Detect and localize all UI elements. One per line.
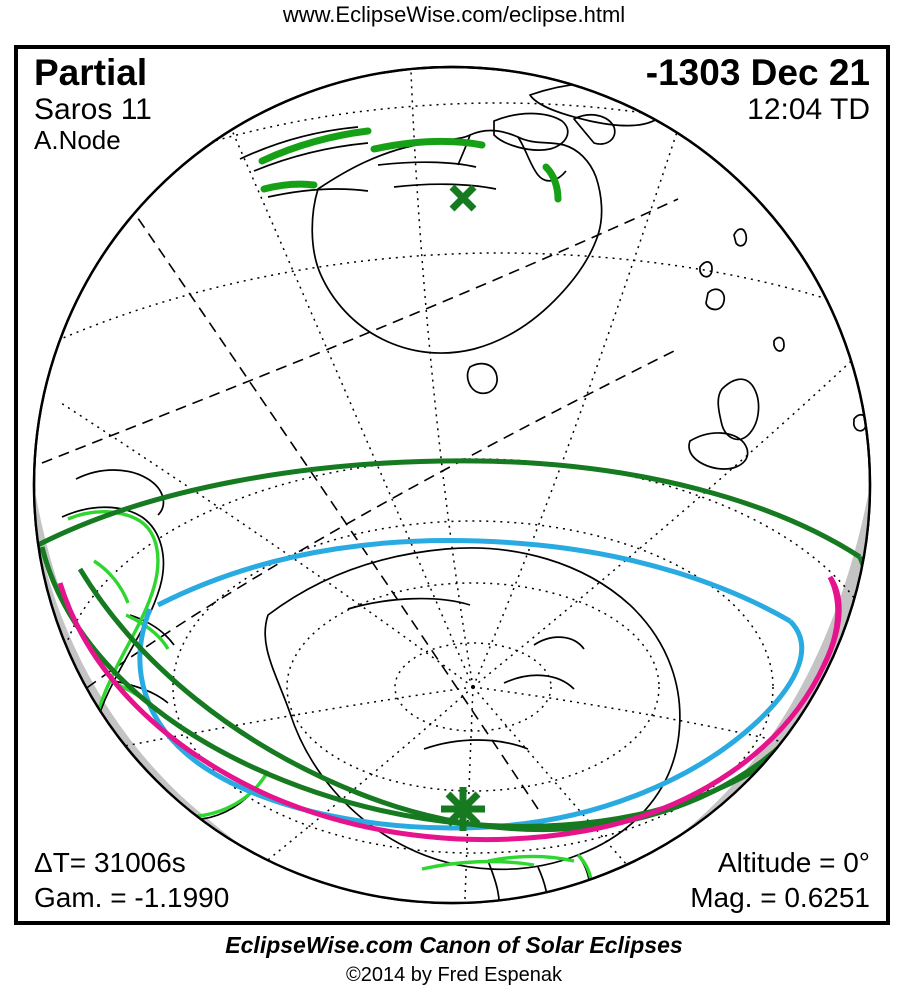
eclipse-map-page: www.EclipseWise.com/eclipse.html bbox=[0, 0, 908, 1004]
globe-map bbox=[18, 49, 886, 921]
footer-title: EclipseWise.com Canon of Solar Eclipses bbox=[0, 932, 908, 959]
top-left-info: Partial Saros 11 A.Node bbox=[34, 53, 152, 156]
top-right-info: -1303 Dec 21 12:04 TD bbox=[646, 53, 870, 126]
gamma-value: Gam. = -1.1990 bbox=[34, 880, 229, 915]
altitude-value: Altitude = 0° bbox=[690, 845, 870, 880]
bottom-left-info: ΔT= 31006s Gam. = -1.1990 bbox=[34, 845, 229, 915]
eclipse-date-label: -1303 Dec 21 bbox=[646, 53, 870, 93]
source-url: www.EclipseWise.com/eclipse.html bbox=[0, 2, 908, 28]
eclipse-time-label: 12:04 TD bbox=[646, 93, 870, 127]
node-label: A.Node bbox=[34, 126, 152, 156]
footer-copyright: ©2014 by Fred Espenak bbox=[0, 964, 908, 987]
bottom-right-info: Altitude = 0° Mag. = 0.6251 bbox=[690, 845, 870, 915]
magnitude-value: Mag. = 0.6251 bbox=[690, 880, 870, 915]
delta-t-value: ΔT= 31006s bbox=[34, 845, 229, 880]
saros-label: Saros 11 bbox=[34, 93, 152, 127]
eclipse-diagram-frame: Partial Saros 11 A.Node -1303 Dec 21 12:… bbox=[14, 45, 890, 925]
eclipse-type-label: Partial bbox=[34, 53, 152, 93]
